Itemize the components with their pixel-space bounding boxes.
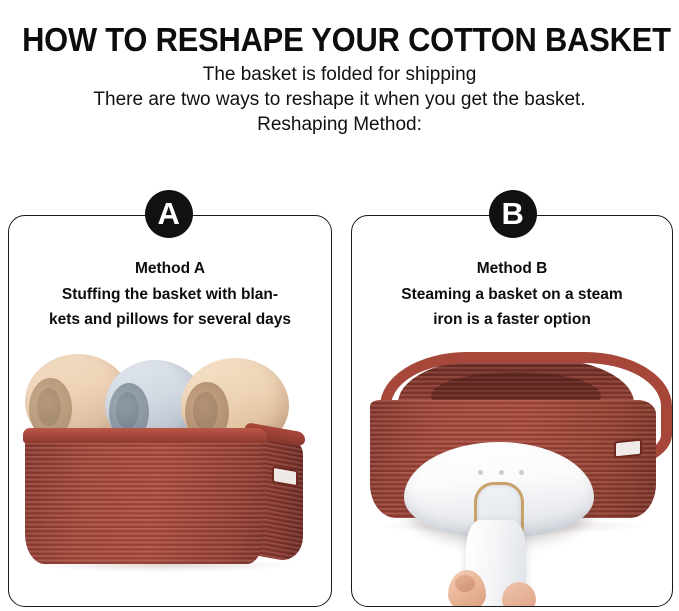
method-card-a: Method A Stuffing the basket with blan- …	[8, 215, 332, 607]
method-b-photo	[352, 346, 672, 606]
method-a-caption: Method A Stuffing the basket with blan- …	[15, 256, 325, 332]
method-a-desc-line-1: Stuffing the basket with blan-	[15, 282, 325, 307]
hand-finger	[502, 582, 536, 606]
intro-paragraph: The basket is folded for shipping There …	[0, 62, 679, 137]
indicator-dot	[499, 470, 504, 475]
method-badge-a: A	[145, 190, 193, 238]
garment-steamer	[404, 442, 594, 606]
method-card-b: Method B Steaming a basket on a steam ir…	[351, 215, 673, 607]
method-b-title: Method B	[358, 256, 666, 281]
indicator-dot	[519, 470, 524, 475]
basket-with-blankets-illustration	[9, 346, 331, 606]
cotton-rope-basket-a	[25, 424, 303, 566]
indicator-dot	[478, 470, 483, 475]
steamer-indicator-dots	[478, 470, 524, 476]
method-badge-b: B	[489, 190, 537, 238]
basket-with-steamer-illustration	[352, 346, 672, 606]
intro-line-1: The basket is folded for shipping	[0, 62, 679, 87]
basket-front-panel	[25, 438, 263, 564]
basket-rim-front	[23, 428, 267, 443]
method-b-caption: Method B Steaming a basket on a steam ir…	[358, 256, 666, 332]
intro-line-3: Reshaping Method:	[0, 112, 679, 137]
basket-shadow	[35, 558, 295, 572]
method-b-desc-line-2: iron is a faster option	[358, 307, 666, 332]
method-a-title: Method A	[15, 256, 325, 281]
page-title: HOW TO RESHAPE YOUR COTTON BASKET	[22, 20, 657, 60]
intro-line-2: There are two ways to reshape it when yo…	[0, 87, 679, 112]
basket-handle-slot	[614, 439, 642, 459]
method-a-desc-line-2: kets and pillows for several days	[15, 307, 325, 332]
method-a-photo	[9, 346, 331, 606]
method-b-desc-line-1: Steaming a basket on a steam	[358, 282, 666, 307]
